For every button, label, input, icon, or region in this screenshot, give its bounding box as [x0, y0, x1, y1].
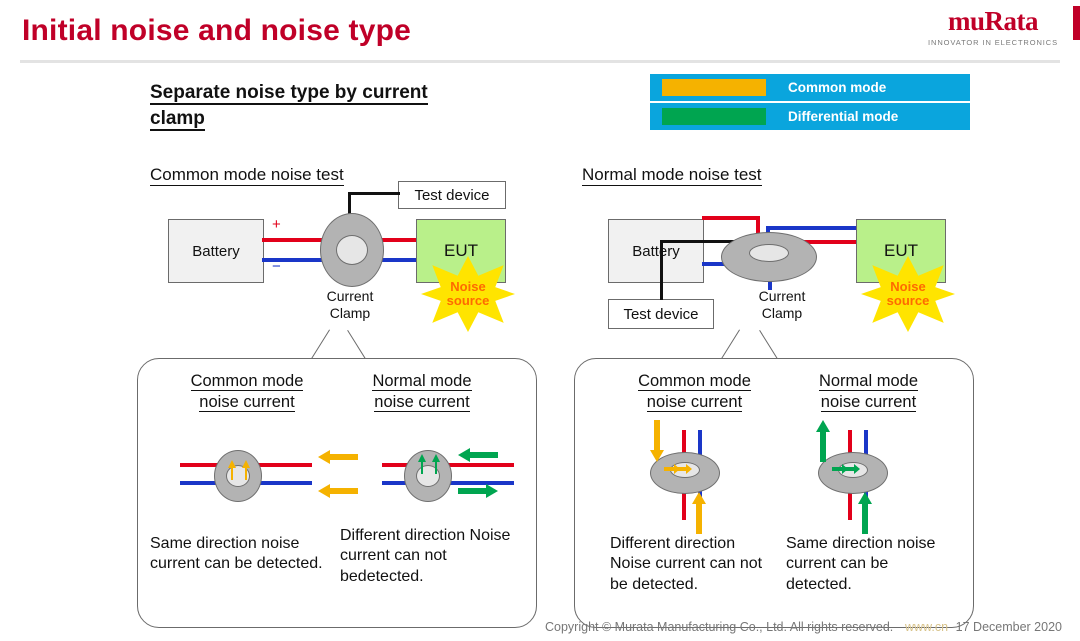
subtitle-line-2: clamp	[150, 108, 205, 131]
rp2-inner-arrows	[830, 462, 864, 480]
left-plus-sign: +	[272, 216, 281, 233]
section-subtitle: Separate noise type by current clamp	[150, 80, 510, 131]
right-clamp-caption: Current Clamp	[742, 288, 822, 322]
legend: Common mode Differential mode	[648, 72, 972, 132]
logo-tagline: INNOVATOR IN ELECTRONICS	[928, 38, 1058, 47]
rp2-arrow-bottom-up	[856, 492, 874, 534]
logo-wordmark: muRata	[928, 8, 1058, 35]
rp1-arrow-top-down	[648, 420, 666, 462]
legend-row-differential-mode: Differential mode	[650, 101, 970, 130]
rp1-inner-arrows	[662, 462, 696, 480]
right-panel-col1-heading: Common mode noise current	[612, 371, 777, 414]
rp2-arrow-top-up	[814, 420, 832, 462]
rp1-arrow-bottom-up	[690, 492, 708, 534]
left-battery-box: Battery	[168, 219, 264, 283]
logo-edge-bar	[1073, 6, 1080, 40]
right-panel-col2-heading: Normal mode noise current	[786, 371, 951, 414]
right-test-device-box: Test device	[608, 299, 714, 329]
right-current-clamp-icon	[721, 232, 815, 280]
common-mode-swatch	[662, 79, 766, 96]
lp2-arrow-top-left	[458, 446, 498, 464]
lp1-arrow-top-left	[318, 448, 358, 466]
left-clamp-caption: Current Clamp	[310, 288, 390, 322]
left-panel-col1-heading: Common mode noise current	[167, 371, 327, 414]
murata-logo: muRata INNOVATOR IN ELECTRONICS	[928, 8, 1058, 47]
legend-row-common-mode: Common mode	[650, 74, 970, 101]
lp1-arrow-bottom-left	[318, 482, 358, 500]
lp2-arrow-bottom-right	[458, 482, 498, 500]
lp1-inner-arrows	[222, 458, 256, 492]
right-battery-box: Battery	[608, 219, 704, 283]
right-panel-col2-text: Same direction noise current can be dete…	[786, 534, 958, 595]
left-noise-source-label: Noise source	[421, 256, 515, 332]
right-panel-col1-text: Different direction Noise current can no…	[610, 534, 780, 595]
legend-swatch-cell	[650, 79, 778, 96]
left-current-clamp-icon	[320, 213, 382, 285]
legend-label-common-mode: Common mode	[778, 80, 886, 95]
left-panel-col2-text: Different direction Noise current can no…	[340, 526, 522, 587]
legend-swatch-cell	[650, 108, 778, 125]
page-title: Initial noise and noise type	[22, 14, 411, 48]
left-panel-col2-heading: Normal mode noise current	[342, 371, 502, 414]
footer-watermark: www.cn	[905, 620, 948, 634]
right-wire-red-top	[702, 216, 760, 220]
clamp-inner-hole	[336, 235, 368, 265]
right-test-device-lead-v	[660, 240, 663, 300]
clamp-inner-hole	[749, 244, 789, 262]
left-test-device-lead-h	[350, 192, 400, 195]
left-noise-source-star: Noise source	[421, 256, 515, 332]
legend-label-differential-mode: Differential mode	[778, 109, 898, 124]
lp2-inner-arrows	[412, 452, 446, 486]
right-noise-source-label: Noise source	[861, 256, 955, 332]
left-test-device-box: Test device	[398, 181, 506, 209]
subtitle-line-1: Separate noise type by current	[150, 82, 428, 105]
right-section-heading: Normal mode noise test	[582, 164, 762, 186]
footer-date: 17 December 2020	[956, 620, 1062, 634]
left-section-heading: Common mode noise test	[150, 164, 344, 186]
footer-copyright: Copyright © Murata Manufacturing Co., Lt…	[545, 620, 893, 634]
left-panel-col1-text: Same direction noise current can be dete…	[150, 534, 328, 575]
differential-mode-swatch	[662, 108, 766, 125]
right-noise-source-star: Noise source	[861, 256, 955, 332]
header-divider	[20, 60, 1060, 63]
